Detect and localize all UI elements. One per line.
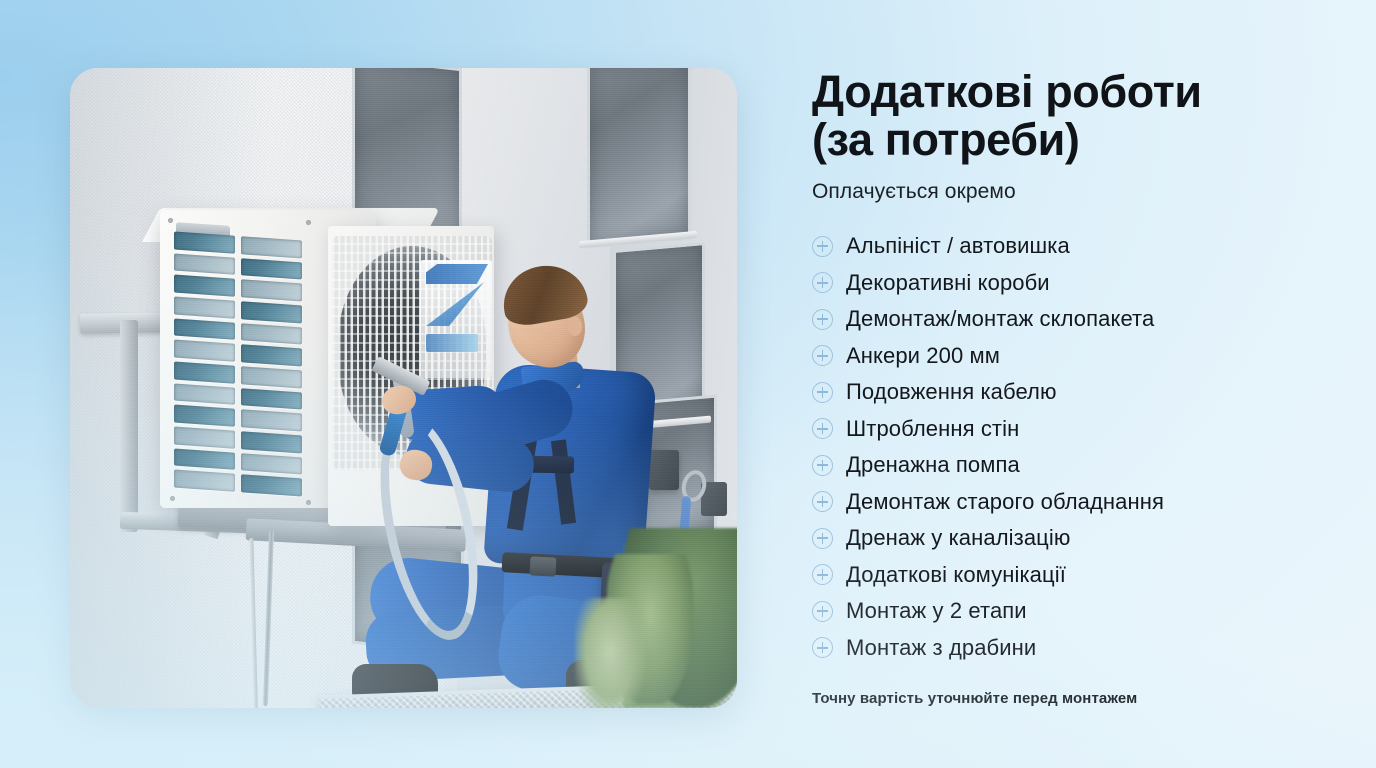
additional-services-list: Альпініст / автовишка Декоративні короби… <box>812 228 1332 666</box>
list-item-label: Декоративні короби <box>846 270 1050 296</box>
page-title: Додаткові роботи (за потреби) <box>812 68 1332 164</box>
list-item-label: Штроблення стін <box>846 416 1019 442</box>
list-item-label: Додаткові комунікації <box>846 562 1066 588</box>
list-item[interactable]: Анкери 200 мм <box>812 338 1332 375</box>
list-item-label: Монтаж з драбини <box>846 635 1036 661</box>
circled-plus-icon <box>812 382 833 403</box>
list-item-label: Дренажна помпа <box>846 452 1020 478</box>
list-item[interactable]: Додаткові комунікації <box>812 557 1332 594</box>
circled-plus-icon <box>812 418 833 439</box>
list-item[interactable]: Дренаж у каналізацію <box>812 520 1332 557</box>
circled-plus-icon <box>812 564 833 585</box>
list-item-label: Подовження кабелю <box>846 379 1057 405</box>
list-item-label: Монтаж у 2 етапи <box>846 598 1027 624</box>
slide-root: Додаткові роботи (за потреби) Оплачуєтьс… <box>0 0 1376 768</box>
circled-plus-icon <box>812 528 833 549</box>
circled-plus-icon <box>812 309 833 330</box>
circled-plus-icon <box>812 491 833 512</box>
list-item-label: Анкери 200 мм <box>846 343 1000 369</box>
list-item-label: Дренаж у каналізацію <box>846 525 1070 551</box>
list-item[interactable]: Демонтаж старого обладнання <box>812 484 1332 521</box>
list-item[interactable]: Декоративні короби <box>812 265 1332 302</box>
list-item[interactable]: Подовження кабелю <box>812 374 1332 411</box>
list-item[interactable]: Монтаж у 2 етапи <box>812 593 1332 630</box>
circled-plus-icon <box>812 455 833 476</box>
list-item[interactable]: Монтаж з драбини <box>812 630 1332 667</box>
circled-plus-icon <box>812 272 833 293</box>
list-item[interactable]: Дренажна помпа <box>812 447 1332 484</box>
list-item-label: Альпініст / автовишка <box>846 233 1070 259</box>
page-subtitle: Оплачується окремо <box>812 180 1332 204</box>
circled-plus-icon <box>812 601 833 622</box>
content-panel: Додаткові роботи (за потреби) Оплачуєтьс… <box>812 68 1332 718</box>
list-item[interactable]: Демонтаж/монтаж склопакета <box>812 301 1332 338</box>
circled-plus-icon <box>812 637 833 658</box>
installation-photo-card <box>70 68 737 708</box>
list-item[interactable]: Альпініст / автовишка <box>812 228 1332 265</box>
circled-plus-icon <box>812 345 833 366</box>
price-disclaimer-note: Точну вартість уточнюйте перед монтажем <box>812 690 1137 707</box>
circled-plus-icon <box>812 236 833 257</box>
list-item[interactable]: Штроблення стін <box>812 411 1332 448</box>
list-item-label: Демонтаж старого обладнання <box>846 489 1164 515</box>
photo-grain-overlay <box>70 68 737 708</box>
list-item-label: Демонтаж/монтаж склопакета <box>846 306 1154 332</box>
